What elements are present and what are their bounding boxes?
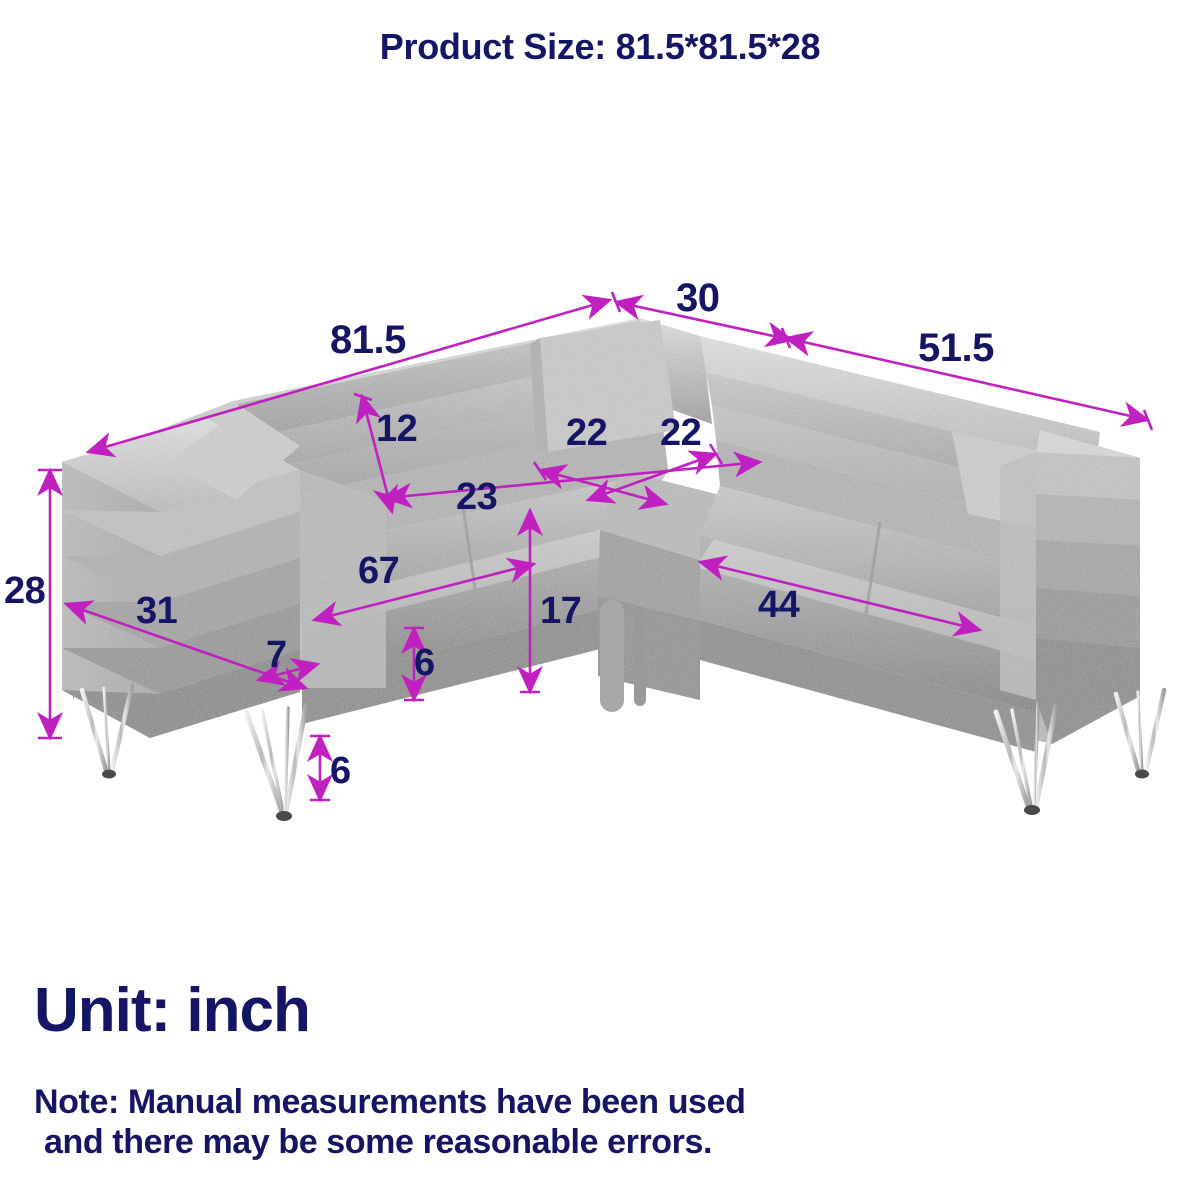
dim-label-31: 31 (136, 592, 177, 630)
dim-label-67: 67 (358, 552, 399, 590)
dim-label-23: 23 (456, 478, 497, 516)
dim-label-17: 17 (540, 592, 581, 630)
dim-label-81-5: 81.5 (330, 320, 406, 360)
right-arm-inner (1000, 452, 1036, 700)
dim-label-30: 30 (676, 278, 720, 318)
dim-label-44: 44 (758, 586, 799, 624)
dim-label-28: 28 (4, 572, 45, 610)
dim-label-51-5: 51.5 (918, 328, 994, 368)
note-line-2: and there may be some reasonable errors. (34, 1122, 984, 1162)
dim-label-12: 12 (376, 410, 417, 448)
dim-label-6-leg: 6 (330, 752, 351, 790)
dim-label-22-right: 22 (660, 414, 701, 452)
unit-label: Unit: inch (34, 980, 310, 1042)
dim-label-22-left: 22 (566, 414, 607, 452)
dim-label-6-seat: 6 (414, 644, 435, 682)
dim-label-7: 7 (266, 636, 287, 674)
product-dimension-diagram: Product Size: 81.5*81.5*28 (0, 0, 1200, 1200)
leg-front-left (246, 706, 306, 821)
measurement-note: Note: Manual measurements have been used… (34, 1082, 984, 1162)
right-arm (1036, 430, 1140, 744)
dimline-6-leg (310, 736, 330, 800)
note-line-1: Note: Manual measurements have been used (34, 1082, 984, 1122)
